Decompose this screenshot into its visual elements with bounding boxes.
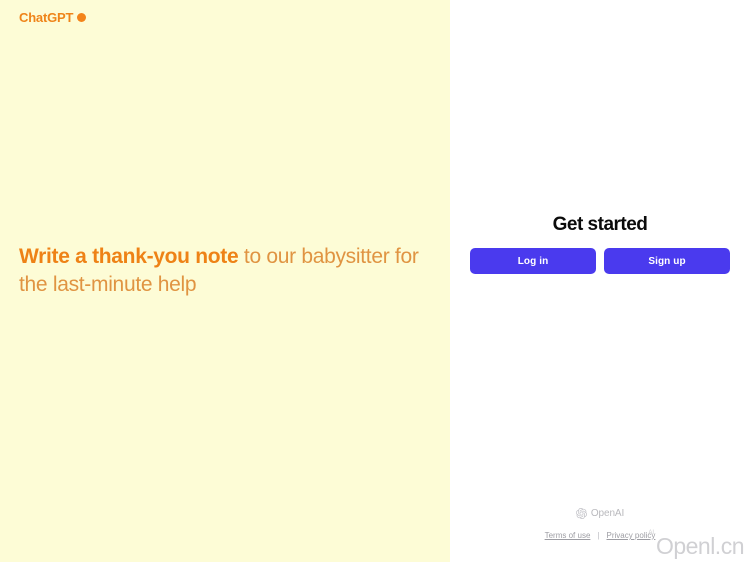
openai-brand-mark: OpenAI xyxy=(576,508,624,519)
right-auth-panel: Get started Log in Sign up OpenAI Terms … xyxy=(450,0,750,562)
openai-brand-word: OpenAI xyxy=(591,509,624,519)
promo-headline-strong: Write a thank-you note xyxy=(19,245,238,268)
page-footer: OpenAI Terms of use | Privacy policy xyxy=(450,506,750,540)
orange-dot-icon xyxy=(77,13,86,22)
footer-separator: | xyxy=(597,532,599,540)
footer-links: Terms of use | Privacy policy xyxy=(450,532,750,540)
chatgpt-landing-page: ChatGPT Write a thank-you note to our ba… xyxy=(0,0,750,562)
terms-of-use-link[interactable]: Terms of use xyxy=(545,532,591,540)
get-started-title: Get started xyxy=(450,214,750,236)
chatgpt-brand-name: ChatGPT xyxy=(19,11,73,24)
promo-text-block: Write a thank-you note to our babysitter… xyxy=(19,243,419,299)
chatgpt-brand-logo[interactable]: ChatGPT xyxy=(19,11,86,24)
auth-block: Get started Log in Sign up xyxy=(450,214,750,274)
watermark-tag: AI xyxy=(648,530,654,536)
auth-buttons-row: Log in Sign up xyxy=(450,248,750,274)
openai-logo-icon xyxy=(576,508,587,519)
login-button[interactable]: Log in xyxy=(470,248,596,274)
left-promo-panel: ChatGPT Write a thank-you note to our ba… xyxy=(0,0,450,562)
signup-button[interactable]: Sign up xyxy=(604,248,730,274)
